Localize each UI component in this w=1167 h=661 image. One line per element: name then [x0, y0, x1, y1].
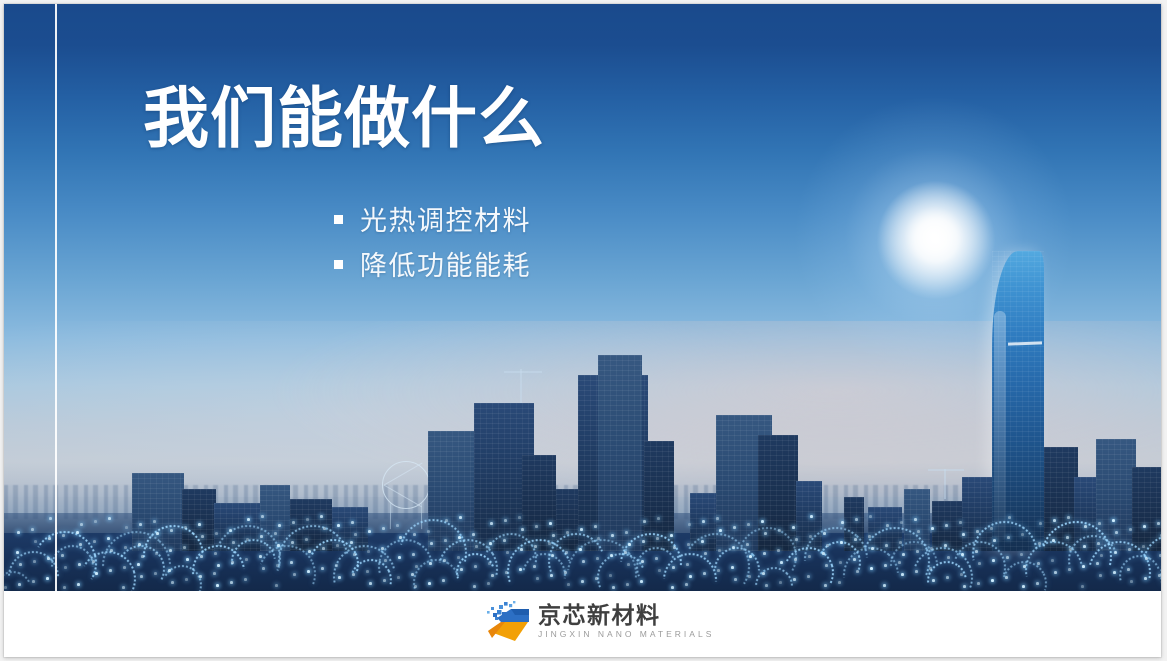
building	[962, 477, 992, 551]
ferris-wheel	[382, 461, 430, 509]
jingxin-pixel-arrow-logo-mark	[485, 600, 531, 644]
list-item: 降低功能能耗	[334, 241, 531, 286]
tower-window-texture	[992, 251, 1044, 551]
list-item: 光热调控材料	[334, 196, 531, 241]
building-windows	[132, 473, 184, 551]
building	[1044, 447, 1078, 551]
building	[556, 489, 578, 551]
building	[644, 441, 674, 551]
building	[332, 507, 368, 551]
building-windows	[1096, 439, 1136, 551]
building-tall	[598, 355, 642, 551]
list-item-label: 光热调控材料	[360, 199, 531, 238]
building-windows	[904, 489, 930, 551]
building-windows	[690, 493, 716, 551]
building	[522, 455, 556, 551]
building	[1132, 467, 1161, 551]
brand-logo: 京芯新材料 JINGXIN NANO MATERIALS	[485, 600, 714, 644]
square-bullet-icon	[334, 215, 343, 224]
building-windows	[522, 455, 556, 551]
sun-core	[876, 180, 996, 300]
bullet-list: 光热调控材料 降低功能能耗	[334, 196, 531, 286]
hero-background-image: 我们能做什么 光热调控材料 降低功能能耗	[4, 4, 1161, 591]
building	[758, 435, 798, 551]
building-windows	[182, 489, 216, 551]
building	[290, 499, 332, 551]
building	[690, 493, 716, 551]
building	[1096, 439, 1136, 551]
building-windows	[556, 489, 578, 551]
building	[214, 503, 260, 551]
building-windows	[796, 481, 822, 551]
ferris-wheel-legs	[390, 503, 422, 529]
building	[182, 489, 216, 551]
building-windows	[1074, 477, 1098, 551]
building-windows	[844, 497, 864, 551]
building-windows	[644, 441, 674, 551]
brand-name-en: JINGXIN NANO MATERIALS	[538, 629, 714, 641]
slide-footer: 京芯新材料 JINGXIN NANO MATERIALS	[4, 591, 1161, 657]
building-windows	[332, 507, 368, 551]
building-windows	[1044, 447, 1078, 551]
landmark-tower	[992, 251, 1044, 551]
building-windows	[260, 485, 290, 551]
brand-name-cn: 京芯新材料	[538, 603, 714, 627]
construction-crane	[520, 369, 522, 403]
building	[132, 473, 184, 551]
building	[904, 489, 930, 551]
square-bullet-icon	[334, 260, 343, 269]
list-item-label: 降低功能能耗	[360, 244, 531, 283]
construction-crane-arm	[504, 371, 542, 373]
building-windows	[758, 435, 798, 551]
construction-crane-arm	[928, 469, 964, 471]
building-windows	[598, 355, 642, 551]
construction-crane	[944, 469, 946, 499]
slide-canvas: 我们能做什么 光热调控材料 降低功能能耗	[4, 4, 1161, 657]
vertical-rule	[55, 4, 57, 591]
building	[868, 507, 902, 551]
brand-logo-text: 京芯新材料 JINGXIN NANO MATERIALS	[538, 603, 714, 640]
building-windows	[1132, 467, 1161, 551]
building-windows	[214, 503, 260, 551]
building	[1074, 477, 1098, 551]
building-windows	[962, 477, 992, 551]
building	[796, 481, 822, 551]
building-windows	[868, 507, 902, 551]
building	[260, 485, 290, 551]
building-windows	[290, 499, 332, 551]
page-title: 我们能做什么	[143, 82, 545, 156]
building	[844, 497, 864, 551]
